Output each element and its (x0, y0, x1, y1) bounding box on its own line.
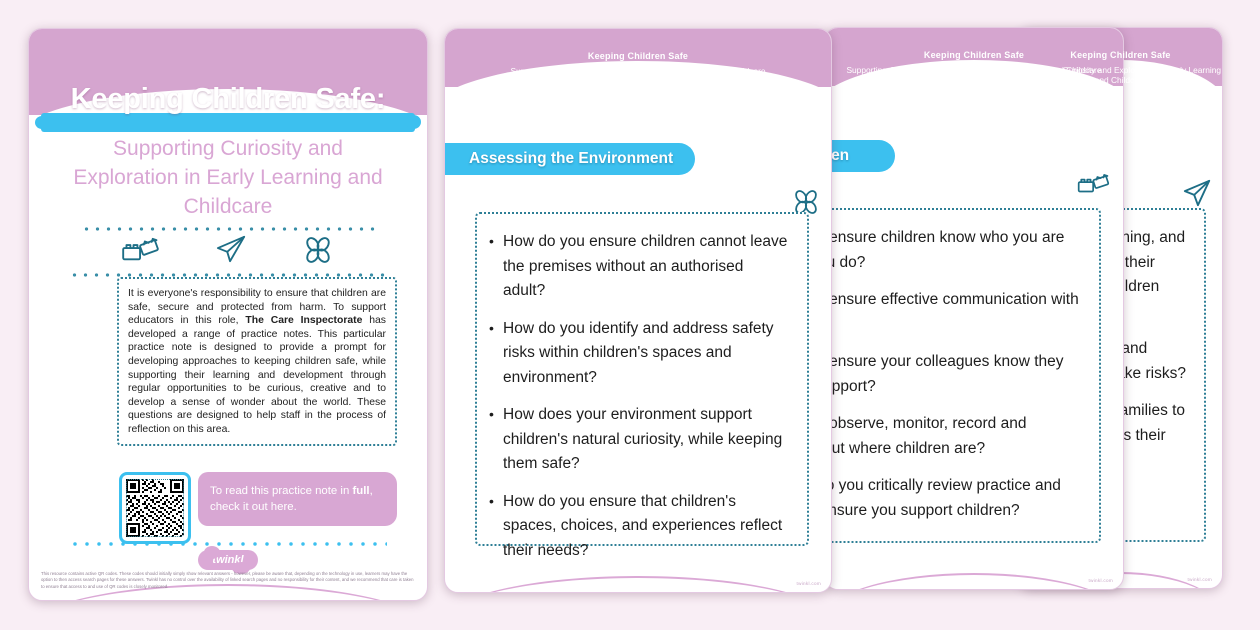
flower-icon (301, 234, 335, 266)
qr-note-bold: full (352, 485, 369, 497)
list-item: How do you observe, monitor, record and … (825, 412, 1081, 461)
page2-question-box: How do you ensure children cannot leave … (475, 212, 809, 546)
intro-text-box: It is everyone's responsibility to ensur… (117, 277, 397, 446)
document-page-3[interactable]: Keeping Children Safe Supporting Curiosi… (824, 27, 1124, 590)
list-item: How do you ensure your colleagues know t… (825, 350, 1081, 399)
intro-text-bold: The Care Inspectorate (245, 315, 362, 326)
list-item: How do you identify and address safety r… (487, 317, 789, 391)
qr-instruction-note: To read this practice note in full, chec… (198, 472, 397, 526)
list-item: How do you ensure children cannot leave … (487, 230, 789, 304)
list-item: How does your environment support childr… (487, 403, 789, 477)
page2-header-subtitle: Supporting Curiosity and Exploration in … (445, 61, 831, 76)
decorative-icon-row (29, 234, 427, 266)
page3-bottom-curve (825, 573, 1123, 589)
lego-blocks-icon (121, 234, 161, 266)
qr-note-part1: To read this practice note in (210, 485, 352, 497)
page2-header-title: Keeping Children Safe (445, 29, 831, 61)
page-subtitle: Supporting Curiosity and Exploration in … (59, 134, 397, 221)
page3-question-box: How do you ensure children know who you … (825, 208, 1101, 543)
document-page-1-cover[interactable]: Keeping Children Safe: Supporting Curios… (28, 28, 428, 601)
list-item: How often do you critically review pract… (825, 474, 1081, 523)
twinkl-logo[interactable]: twinkl (29, 550, 427, 570)
qr-disclaimer-text: This resource contains active QR codes. … (41, 571, 415, 590)
page3-footer: twinkl.com (1089, 578, 1113, 583)
paper-plane-icon (213, 234, 249, 266)
page2-section-banner: Assessing the Environment (445, 143, 695, 175)
document-page-2[interactable]: Keeping Children Safe Supporting Curiosi… (444, 28, 832, 593)
page3-section-banner: Knowing the Children (825, 140, 895, 172)
lego-blocks-icon (1077, 170, 1111, 201)
page2-question-list: How do you ensure children cannot leave … (487, 230, 789, 563)
page3-header-title: Keeping Children Safe (825, 28, 1123, 60)
page3-header-subtitle: Supporting Curiosity and Exploration in … (825, 60, 1123, 75)
page2-footer: twinkl.com (797, 581, 821, 586)
dotted-divider-footer (69, 542, 387, 546)
page-title: Keeping Children Safe: (29, 83, 427, 116)
dotted-divider-top (81, 227, 375, 231)
twinkl-logo-text: twinkl (198, 550, 257, 570)
qr-row[interactable]: To read this practice note in full, chec… (119, 472, 397, 544)
page2-header: Keeping Children Safe Supporting Curiosi… (445, 29, 831, 87)
page1-title-group: Keeping Children Safe: (29, 83, 427, 116)
qr-dotted-border (126, 479, 184, 537)
list-item: How do you ensure that children's spaces… (487, 490, 789, 564)
page4-footer: twinkl.com (1188, 577, 1212, 582)
list-item: How do you ensure children know who you … (825, 226, 1081, 275)
qr-code-icon[interactable] (119, 472, 191, 544)
intro-text-part2: has developed a range of practice notes.… (128, 315, 386, 435)
intro-paragraph: It is everyone's responsibility to ensur… (128, 287, 386, 437)
page3-question-list: How do you ensure children know who you … (825, 226, 1081, 523)
page2-bottom-curve (445, 576, 831, 592)
list-item: How do you ensure effective communicatio… (825, 288, 1081, 337)
